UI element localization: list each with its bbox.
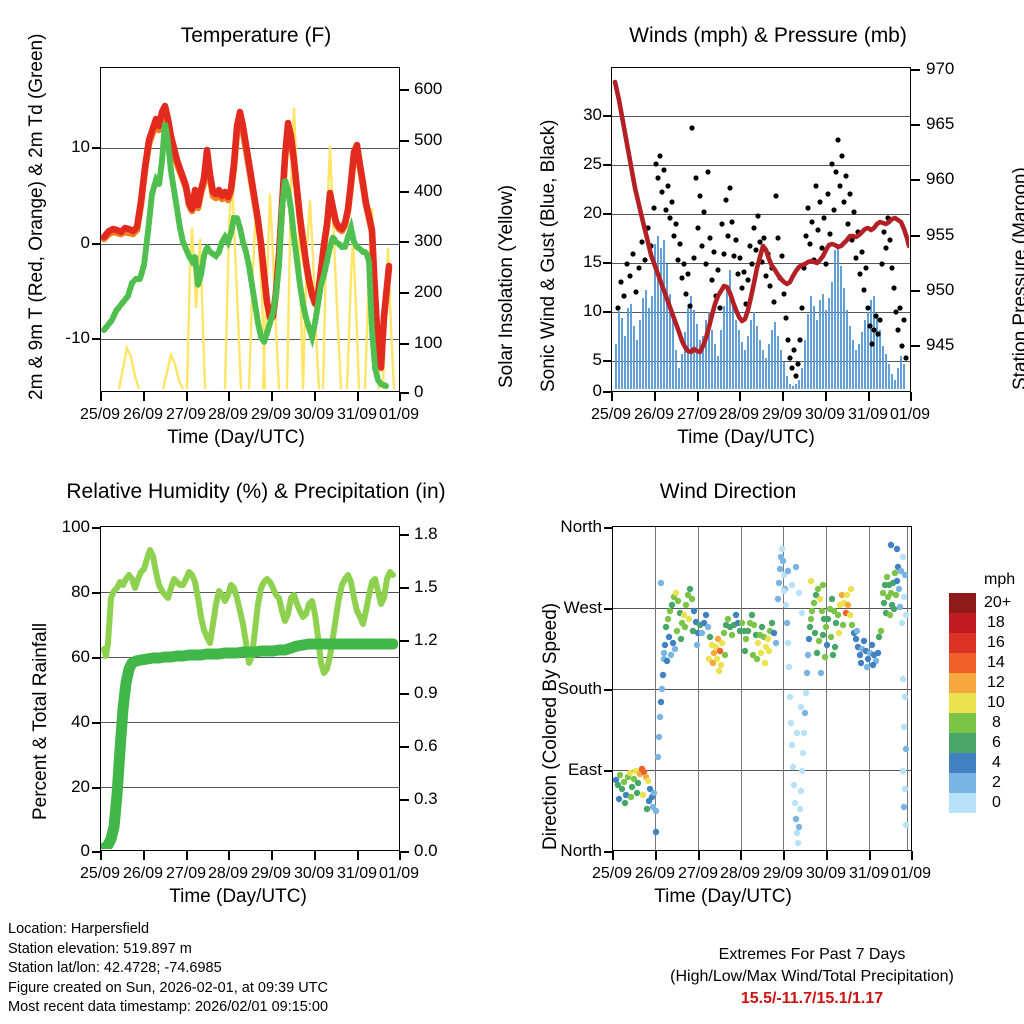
figure-metadata: Location: Harpersfield Station elevation… bbox=[8, 920, 328, 1018]
y-axis-tickmark-right bbox=[911, 345, 920, 347]
panel-winds-ylabel-left: Sonic Wind & Gust (Blue, Black) bbox=[538, 120, 560, 392]
panel-humidity-xlabel: Time (Day/UTC) bbox=[0, 886, 494, 908]
y-axis-tick-label-right: 500 bbox=[414, 130, 442, 150]
x-axis-tickmark bbox=[655, 851, 657, 860]
colorbar-unit-label: mph bbox=[984, 571, 1015, 589]
y-axis-tick-label-right: 970 bbox=[926, 59, 954, 79]
panel-temperature: Temperature (F) 2m & 9m T (Red, Orange) … bbox=[0, 0, 512, 450]
panel-wind-direction: Wind Direction Direction (Colored By Spe… bbox=[512, 450, 1024, 950]
colorbar-band bbox=[949, 793, 976, 813]
x-axis-tickmark bbox=[698, 851, 700, 860]
y-axis-tick-label: 0 bbox=[42, 841, 90, 861]
y-axis-tick-label-right: 955 bbox=[926, 225, 954, 245]
y-axis-tickmark bbox=[604, 527, 613, 529]
y-axis-tickmark bbox=[92, 657, 101, 659]
y-axis-tick-label-right: 1.5 bbox=[414, 577, 438, 597]
y-axis-tick-label: South bbox=[530, 679, 602, 699]
x-axis-tickmark bbox=[611, 392, 613, 401]
x-axis-tickmark bbox=[869, 851, 871, 860]
colorbar-band bbox=[949, 753, 976, 773]
x-axis-tick-label: 28/09 bbox=[208, 865, 248, 883]
panel-humidity-series bbox=[101, 527, 398, 849]
x-axis-tickmark bbox=[654, 392, 656, 401]
x-axis-tick-label: 31/09 bbox=[337, 865, 377, 883]
panel-winds-ylabel-right: Station Pressure (Maroon) bbox=[1010, 167, 1024, 390]
x-axis-tick-label: 31/09 bbox=[848, 406, 888, 424]
y-axis-tick-label: 100 bbox=[42, 517, 90, 537]
y-axis-tick-label: 40 bbox=[42, 712, 90, 732]
x-axis-tick-label: 25/09 bbox=[591, 406, 631, 424]
x-axis-tick-label: 27/09 bbox=[166, 406, 206, 424]
x-axis-tickmark bbox=[143, 392, 145, 401]
x-axis-tickmark bbox=[186, 392, 188, 401]
x-axis-tick-label: 31/09 bbox=[337, 406, 377, 424]
colorbar-band bbox=[949, 673, 976, 693]
panel-wind-direction-ylabel: Direction (Colored By Speed) bbox=[540, 603, 562, 850]
y-axis-tick-label: West bbox=[530, 598, 602, 618]
colorbar-tick-label: 20+ bbox=[984, 594, 1011, 612]
y-axis-tick-label: North bbox=[530, 517, 602, 537]
y-axis-tickmark-right bbox=[400, 191, 409, 193]
y-axis-tick-label-right: 945 bbox=[926, 335, 954, 355]
y-axis-tickmark bbox=[603, 262, 612, 264]
y-axis-tickmark bbox=[92, 527, 101, 529]
y-axis-tick-label-right: 950 bbox=[926, 280, 954, 300]
y-axis-tickmark-right bbox=[400, 292, 409, 294]
panel-wind-direction-title: Wind Direction bbox=[472, 480, 984, 504]
y-axis-tickmark bbox=[603, 115, 612, 117]
panel-temperature-series bbox=[101, 68, 398, 390]
x-axis-tickmark bbox=[143, 851, 145, 860]
metadata-recent-timestamp: Most recent data timestamp: 2026/02/01 0… bbox=[8, 998, 328, 1018]
panel-humidity-title: Relative Humidity (%) & Precipitation (i… bbox=[0, 480, 512, 504]
panel-winds-pressure: Winds (mph) & Pressure (mb) Sonic Wind &… bbox=[512, 0, 1024, 450]
colorbar-band bbox=[949, 713, 976, 733]
panel-winds-xlabel: Time (Day/UTC) bbox=[490, 427, 1002, 449]
x-axis-tickmark bbox=[911, 851, 913, 860]
y-axis-tick-label-right: 300 bbox=[414, 231, 442, 251]
y-axis-tick-label: 20 bbox=[562, 203, 602, 223]
x-axis-tick-label: 27/09 bbox=[677, 406, 717, 424]
y-axis-tickmark bbox=[92, 338, 101, 340]
x-axis-tickmark bbox=[782, 392, 784, 401]
y-axis-tickmark bbox=[604, 770, 613, 772]
y-axis-tick-label: 5 bbox=[562, 350, 602, 370]
colorbar-tick-label: 6 bbox=[992, 734, 1001, 752]
y-axis-tickmark-right bbox=[911, 179, 920, 181]
x-axis-tickmark bbox=[783, 851, 785, 860]
colorbar-band bbox=[949, 613, 976, 633]
y-axis-tick-label-right: 1.8 bbox=[414, 524, 438, 544]
colorbar-tick-label: 14 bbox=[987, 654, 1005, 672]
y-axis-tickmark bbox=[92, 592, 101, 594]
x-axis-tick-label: 30/09 bbox=[805, 406, 845, 424]
y-axis-tick-label: East bbox=[530, 760, 602, 780]
y-axis-tick-label-right: 600 bbox=[414, 79, 442, 99]
y-axis-tickmark-right bbox=[911, 124, 920, 126]
y-axis-tickmark-right bbox=[400, 392, 409, 394]
y-axis-tickmark bbox=[603, 311, 612, 313]
y-axis-tick-label: 0 bbox=[46, 233, 90, 253]
x-axis-tickmark bbox=[100, 392, 102, 401]
x-axis-tickmark bbox=[399, 851, 401, 860]
x-axis-tick-label: 26/09 bbox=[123, 406, 163, 424]
y-axis-tickmark-right bbox=[911, 290, 920, 292]
y-axis-tick-label-right: 0 bbox=[414, 382, 423, 402]
y-axis-tickmark bbox=[92, 787, 101, 789]
y-axis-tickmark bbox=[603, 360, 612, 362]
x-axis-tick-label: 01/09 bbox=[891, 865, 931, 883]
x-axis-tick-label: 26/09 bbox=[123, 865, 163, 883]
extremes-subheading: (High/Low/Max Wind/Total Precipitation) bbox=[612, 966, 1012, 988]
x-axis-tick-label: 29/09 bbox=[762, 406, 802, 424]
panel-temperature-title: Temperature (F) bbox=[0, 24, 512, 48]
y-axis-tickmark-right bbox=[400, 851, 409, 853]
x-axis-tickmark bbox=[271, 392, 273, 401]
y-axis-tick-label: 10 bbox=[46, 137, 90, 157]
x-axis-tick-label: 30/09 bbox=[806, 865, 846, 883]
y-axis-tickmark-right bbox=[400, 799, 409, 801]
x-axis-tick-label: 30/09 bbox=[294, 865, 334, 883]
y-axis-tick-label: -10 bbox=[40, 328, 90, 348]
metadata-latlon: Station lat/lon: 42.4728; -74.6985 bbox=[8, 959, 328, 979]
y-axis-tick-label-right: 400 bbox=[414, 181, 442, 201]
x-axis-tick-label: 26/09 bbox=[635, 865, 675, 883]
x-axis-tickmark bbox=[612, 851, 614, 860]
colorbar-tick-label: 16 bbox=[987, 634, 1005, 652]
panel-wind-direction-scatter bbox=[613, 527, 910, 849]
y-axis-tick-label-right: 965 bbox=[926, 114, 954, 134]
y-axis-tickmark bbox=[92, 243, 101, 245]
extremes-value: 15.5/-11.7/15.1/1.17 bbox=[612, 988, 1012, 1010]
y-axis-tick-label: 10 bbox=[562, 301, 602, 321]
y-axis-tickmark-right bbox=[400, 343, 409, 345]
x-axis-tick-label: 01/09 bbox=[379, 406, 419, 424]
x-axis-tick-label: 29/09 bbox=[763, 865, 803, 883]
x-axis-tick-label: 25/09 bbox=[80, 865, 120, 883]
x-axis-tickmark bbox=[271, 851, 273, 860]
metadata-created: Figure created on Sun, 2026-02-01, at 09… bbox=[8, 979, 328, 999]
extremes-heading: Extremes For Past 7 Days bbox=[612, 944, 1012, 966]
x-axis-tickmark bbox=[399, 392, 401, 401]
y-axis-tick-label: 80 bbox=[42, 582, 90, 602]
y-axis-tick-label: 30 bbox=[562, 105, 602, 125]
colorbar-tick-label: 4 bbox=[992, 754, 1001, 772]
x-axis-tickmark bbox=[826, 851, 828, 860]
colorbar-tick-label: 2 bbox=[992, 774, 1001, 792]
panel-wind-direction-xlabel: Time (Day/UTC) bbox=[467, 886, 979, 908]
x-axis-tickmark bbox=[910, 392, 912, 401]
colorbar-band bbox=[949, 733, 976, 753]
y-axis-tick-label: 15 bbox=[562, 252, 602, 272]
colorbar-band bbox=[949, 653, 976, 673]
y-axis-tickmark-right bbox=[400, 534, 409, 536]
x-axis-tick-label: 01/09 bbox=[890, 406, 930, 424]
x-axis-tick-label: 01/09 bbox=[379, 865, 419, 883]
panel-winds-title: Winds (mph) & Pressure (mb) bbox=[512, 24, 1024, 48]
panel-winds-plot-frame bbox=[611, 67, 911, 392]
y-axis-tick-label: 60 bbox=[42, 647, 90, 667]
x-axis-tickmark bbox=[739, 392, 741, 401]
x-axis-tick-label: 25/09 bbox=[592, 865, 632, 883]
x-axis-tick-label: 31/09 bbox=[849, 865, 889, 883]
y-axis-tick-label: 20 bbox=[42, 777, 90, 797]
x-axis-tickmark bbox=[314, 851, 316, 860]
y-axis-tick-label-right: 0.0 bbox=[414, 841, 438, 861]
panel-winds-series bbox=[612, 68, 909, 390]
y-axis-tickmark-right bbox=[400, 241, 409, 243]
x-axis-tickmark bbox=[314, 392, 316, 401]
metadata-elevation: Station elevation: 519.897 m bbox=[8, 940, 328, 960]
panel-wind-direction-plot-frame bbox=[612, 526, 912, 851]
y-axis-tick-label-right: 0.3 bbox=[414, 789, 438, 809]
x-axis-tickmark bbox=[186, 851, 188, 860]
x-axis-tick-label: 29/09 bbox=[251, 865, 291, 883]
colorbar-band bbox=[949, 633, 976, 653]
x-axis-tick-label: 25/09 bbox=[80, 406, 120, 424]
colorbar-tick-label: 0 bbox=[992, 794, 1001, 812]
colorbar-band bbox=[949, 693, 976, 713]
x-axis-tickmark bbox=[228, 392, 230, 401]
x-axis-tickmark bbox=[228, 851, 230, 860]
x-axis-tick-label: 30/09 bbox=[294, 406, 334, 424]
y-axis-tick-label-right: 0.6 bbox=[414, 736, 438, 756]
y-axis-tickmark bbox=[604, 689, 613, 691]
y-axis-tickmark bbox=[603, 213, 612, 215]
y-axis-tick-label-right: 1.2 bbox=[414, 630, 438, 650]
y-axis-tick-label: 0 bbox=[562, 381, 602, 401]
y-axis-tick-label: North bbox=[530, 841, 602, 861]
panel-humidity-plot-frame bbox=[100, 526, 400, 851]
metadata-location: Location: Harpersfield bbox=[8, 920, 328, 940]
y-axis-tickmark bbox=[92, 722, 101, 724]
x-axis-tickmark bbox=[740, 851, 742, 860]
panel-humidity-precip: Relative Humidity (%) & Precipitation (i… bbox=[0, 450, 512, 950]
colorbar-band bbox=[949, 773, 976, 793]
colorbar-tick-label: 8 bbox=[992, 714, 1001, 732]
y-axis-tickmark bbox=[603, 164, 612, 166]
y-axis-tickmark bbox=[92, 147, 101, 149]
y-axis-tickmark-right bbox=[400, 640, 409, 642]
colorbar-tick-label: 10 bbox=[987, 694, 1005, 712]
colorbar-band bbox=[949, 593, 976, 613]
x-axis-tickmark bbox=[868, 392, 870, 401]
x-axis-tickmark bbox=[697, 392, 699, 401]
y-axis-tickmark-right bbox=[911, 235, 920, 237]
colorbar bbox=[949, 593, 976, 813]
y-axis-tickmark-right bbox=[400, 693, 409, 695]
y-axis-tick-label: 25 bbox=[562, 154, 602, 174]
x-axis-tick-label: 28/09 bbox=[720, 865, 760, 883]
x-axis-tick-label: 28/09 bbox=[208, 406, 248, 424]
x-axis-tickmark bbox=[825, 392, 827, 401]
y-axis-tick-label-right: 200 bbox=[414, 282, 442, 302]
y-axis-tick-label-right: 100 bbox=[414, 333, 442, 353]
colorbar-tick-label: 18 bbox=[987, 614, 1005, 632]
x-axis-tick-label: 29/09 bbox=[251, 406, 291, 424]
colorbar-tick-label: 12 bbox=[987, 674, 1005, 692]
x-axis-tickmark bbox=[357, 851, 359, 860]
y-axis-tickmark-right bbox=[400, 140, 409, 142]
panel-temperature-plot-frame bbox=[100, 67, 400, 392]
y-axis-tickmark bbox=[604, 608, 613, 610]
y-axis-tickmark-right bbox=[911, 69, 920, 71]
y-axis-tick-label-right: 960 bbox=[926, 169, 954, 189]
extremes-block: Extremes For Past 7 Days (High/Low/Max W… bbox=[612, 944, 1012, 1010]
y-axis-tickmark-right bbox=[400, 746, 409, 748]
panel-temperature-xlabel: Time (Day/UTC) bbox=[0, 427, 492, 449]
y-axis-tickmark-right bbox=[400, 89, 409, 91]
x-axis-tick-label: 27/09 bbox=[678, 865, 718, 883]
x-axis-tick-label: 26/09 bbox=[634, 406, 674, 424]
y-axis-tick-label-right: 0.9 bbox=[414, 683, 438, 703]
y-axis-tickmark-right bbox=[400, 587, 409, 589]
x-axis-tickmark bbox=[357, 392, 359, 401]
x-axis-tick-label: 27/09 bbox=[166, 865, 206, 883]
x-axis-tick-label: 28/09 bbox=[719, 406, 759, 424]
x-axis-tickmark bbox=[100, 851, 102, 860]
